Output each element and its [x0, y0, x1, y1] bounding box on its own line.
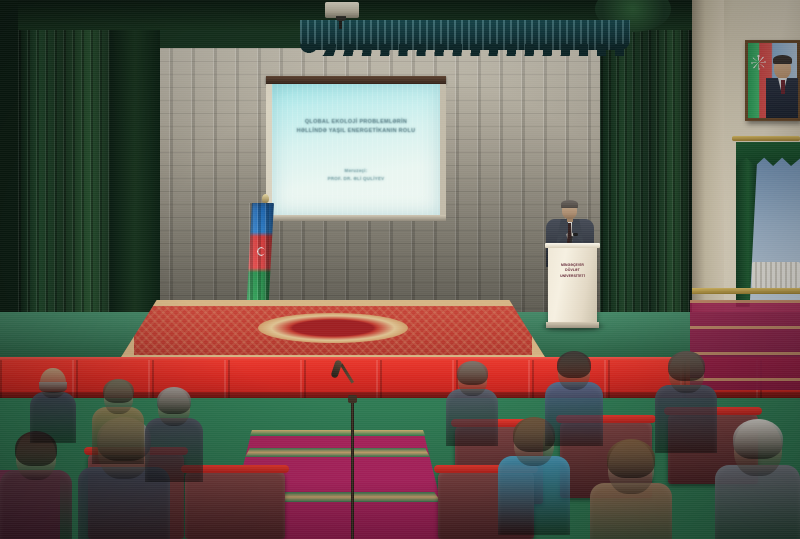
slide-subtitle-line-1: Məruzəçi: [277, 167, 435, 175]
flag-finial [262, 194, 269, 203]
attendee-bald-man-left-hair-fringe [39, 382, 67, 393]
screen-edge-right [440, 84, 446, 220]
attendee-dark-suit-man-shoulders [655, 385, 717, 453]
runner-border-top [225, 430, 450, 436]
screen-frame [266, 76, 446, 84]
flag-star-icon [751, 55, 766, 70]
lectern [548, 245, 597, 327]
attendee-woman-dark-hair-shoulders [0, 470, 72, 539]
microphone-clamp [348, 395, 357, 403]
carpet-border [118, 300, 548, 362]
lectern-sign: MİNGƏÇEVİR DÖVLƏT UNİVERSİTETİ [549, 263, 596, 279]
screen-bottom-bar [266, 215, 446, 221]
auditorium-photo: QLOBAL EKOLOJİ PROBLEMLƏRİN HƏLLİNDƏ YAŞ… [0, 0, 800, 539]
attendee-grey-man-shoulders [145, 418, 203, 482]
mid-stage-curtain [110, 0, 160, 330]
wall-trim [690, 288, 800, 294]
portrait-tie [781, 80, 785, 94]
attendee-grey-man-hair [157, 387, 191, 414]
attendee-woman-updo-shoulders [92, 407, 144, 464]
attendee-white-hair-man-shoulders [715, 465, 800, 539]
lectern-base [546, 322, 599, 328]
left-wall-shadow [0, 0, 20, 330]
attendee-blonde-woman-hair [607, 439, 655, 478]
projector-lens [336, 16, 346, 21]
lectern-top [545, 243, 600, 248]
right-carpet-stripes [690, 300, 800, 390]
microphone-stand-pole [351, 400, 354, 539]
slide-title: QLOBAL EKOLOJİ PROBLEMLƏRİN HƏLLİNDƏ YAŞ… [277, 118, 435, 136]
screen-texture [272, 84, 440, 215]
slide-subtitle: Məruzəçi: PROF. DR. ƏLİ QULİYEV [277, 167, 435, 183]
attendee-dark-suit-man-hair [668, 351, 705, 381]
slide-subtitle-line-2: PROF. DR. ƏLİ QULİYEV [277, 175, 435, 183]
flag-folds [249, 203, 271, 315]
portrait-hair [773, 55, 792, 64]
slide-title-line-1: QLOBAL EKOLOJİ PROBLEMLƏRİN [277, 118, 435, 127]
podium-microphone-icon [573, 233, 578, 236]
attendee-blue-jacket-man-hair [557, 351, 591, 378]
speaker-hair [561, 200, 578, 208]
curtain-rod [732, 136, 800, 141]
runner-border-mid [225, 448, 450, 457]
attendee-suited-man-shoulders [446, 389, 498, 446]
attendee-bald-man-left-shoulders [30, 392, 76, 443]
attendee-woman-updo-hair [103, 379, 134, 403]
projector-mount [339, 20, 342, 29]
attendee-suited-man-hair [457, 361, 488, 385]
slide-title-line-2: HƏLLİNDƏ YAŞIL ENERGETİKANIN ROLU [277, 127, 435, 136]
attendee-blue-woman-shoulders [498, 456, 570, 535]
valance-scallop [300, 44, 630, 56]
lectern-sign-line-3: UNİVERSİTETİ [549, 274, 596, 279]
radiator [752, 262, 800, 288]
attendee-white-hair-man-hair [733, 419, 783, 459]
attendee-blue-jacket-man-shoulders [545, 382, 603, 446]
